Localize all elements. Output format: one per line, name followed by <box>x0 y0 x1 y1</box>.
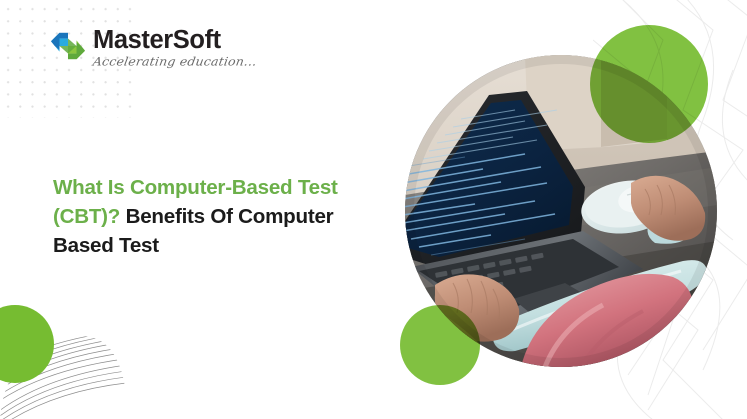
logo-name: MasterSoft <box>93 27 221 53</box>
top-right-green-circle <box>590 25 708 143</box>
pinwheel-arrows-icon <box>49 29 87 63</box>
mastersoft-logo[interactable]: MasterSoft Accelerating education... <box>49 27 257 69</box>
logo-wordmark-group: MasterSoft Accelerating education... <box>93 27 257 69</box>
page-title: What Is Computer-Based Test (CBT)? Benef… <box>53 173 373 261</box>
blog-hero-banner: MasterSoft Accelerating education... Wha… <box>0 0 747 419</box>
bottom-left-corner-green-circle <box>0 305 54 383</box>
bottom-left-green-circle <box>400 305 480 385</box>
logo-tagline: Accelerating education... <box>92 54 258 68</box>
